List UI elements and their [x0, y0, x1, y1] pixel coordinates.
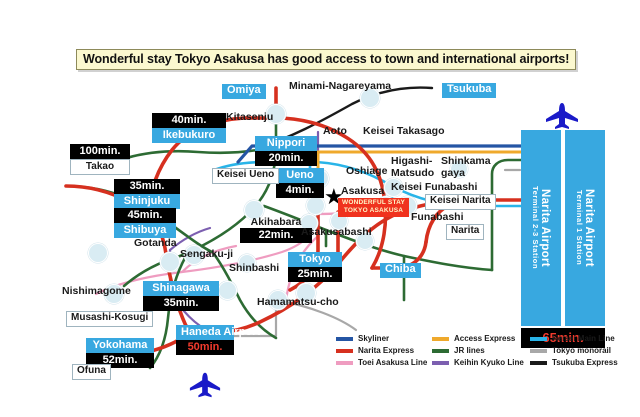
- station-aoto: Aoto: [323, 126, 347, 137]
- station-name-label: Shibuya: [114, 223, 176, 238]
- station-omiya[interactable]: Omiya: [222, 84, 266, 99]
- station-dot: [88, 243, 108, 263]
- legend-swatch: [432, 361, 449, 365]
- travel-time-label: 4min.: [276, 183, 324, 198]
- legend-item-narita-express: Narita Express: [336, 346, 432, 355]
- legend-label: Toei Asakusa Line: [358, 358, 427, 367]
- legend-item-access-express: Access Express: [432, 334, 530, 343]
- legend-item-tsukuba-express: Tsukuba Express: [530, 358, 632, 367]
- station-asakusabashi: Asakusabashi: [301, 227, 372, 238]
- airplane-icon: [544, 103, 580, 129]
- station-takao[interactable]: 100min. Takao: [70, 144, 130, 175]
- legend-item-jr-lines: JR lines: [432, 346, 530, 355]
- legend-label: Narita Express: [358, 346, 414, 355]
- station-oshiage: Oshiage: [346, 166, 387, 177]
- hotel-name-line1: WONDERFUL STAY: [342, 199, 405, 207]
- station-chiba[interactable]: Chiba: [380, 263, 421, 278]
- station-higashi-matsudo-line1: Higashi-: [391, 156, 432, 167]
- station-ofuna[interactable]: Ofuna: [72, 364, 111, 380]
- station-asakusa: Asakusa: [341, 186, 384, 197]
- station-name-label: Shinagawa: [143, 281, 219, 296]
- travel-time-label: 20min.: [255, 151, 317, 166]
- legend-swatch: [336, 361, 353, 365]
- station-dot: [160, 252, 180, 272]
- transit-access-map: Wonderful stay Tokyo Asakusa has good ac…: [0, 0, 640, 417]
- narita-terminal-23-name: Narita Airport: [539, 189, 551, 267]
- station-minami-nagareyama: Minami-Nagareyama: [289, 81, 391, 92]
- station-musashi-kosugi[interactable]: Musashi-Kosugi: [66, 311, 153, 327]
- hotel-name-line2: TOKYO ASAKUSA: [342, 207, 405, 215]
- travel-time-label: 25min.: [288, 267, 342, 282]
- station-funabashi: Funabashi: [411, 212, 464, 223]
- legend-swatch: [530, 349, 547, 353]
- station-shinkamagaya-line2: gaya: [441, 168, 465, 179]
- station-sengakuji: Sengaku-ji: [180, 249, 233, 260]
- station-tokyo[interactable]: Tokyo 25min.: [288, 252, 342, 282]
- legend-label: Keihin Kyuko Line: [454, 358, 524, 367]
- station-shinjuku[interactable]: 35min. Shinjuku: [114, 179, 180, 209]
- legend-item-keihin-kyuko-line: Keihin Kyuko Line: [432, 358, 530, 367]
- station-nippori[interactable]: Nippori 20min.: [255, 136, 317, 166]
- station-keisei-ueno[interactable]: Keisei Ueno: [212, 168, 279, 184]
- station-higashi-matsudo-line2: Matsudo: [391, 168, 434, 179]
- travel-time-label: 45min.: [114, 208, 176, 223]
- narita-terminal-1-block[interactable]: Terminal 1 Station Narita Airport: [565, 130, 605, 326]
- legend-swatch: [432, 349, 449, 353]
- station-shinagawa[interactable]: Shinagawa 35min.: [143, 281, 219, 311]
- legend-swatch: [336, 337, 353, 341]
- station-name-label: Ikebukuro: [152, 128, 226, 143]
- station-shinbashi: Shinbashi: [229, 263, 279, 274]
- station-dot: [218, 281, 237, 300]
- legend-swatch: [530, 361, 547, 365]
- station-nishimagome: Nishimagome: [62, 286, 131, 297]
- narita-terminal-23-sub: Terminal 2-3 Station: [531, 186, 539, 269]
- station-gotanda: Gotanda: [134, 238, 177, 249]
- station-narita[interactable]: Narita: [446, 224, 484, 240]
- station-name-label: Yokohama: [86, 338, 154, 353]
- legend-swatch: [530, 337, 547, 341]
- station-shibuya[interactable]: 45min. Shibuya: [114, 208, 176, 238]
- station-name-label: Ueno: [276, 168, 324, 183]
- station-shinkamagaya-line1: Shinkama: [441, 156, 491, 167]
- headline-banner: Wonderful stay Tokyo Asakusa has good ac…: [76, 49, 576, 70]
- legend-label: Tsukuba Express: [552, 358, 618, 367]
- legend-swatch: [432, 337, 449, 341]
- narita-terminal-23-block[interactable]: Terminal 2-3 Station Narita Airport: [521, 130, 561, 326]
- travel-time-label: 35min.: [114, 179, 180, 194]
- haneda-travel-time-label: 50min.: [176, 340, 234, 355]
- station-name-label: Shinjuku: [114, 194, 180, 209]
- haneda-name-label: Haneda Airport: [176, 325, 234, 340]
- station-haneda-airport[interactable]: Haneda Airport 50min.: [176, 325, 234, 355]
- travel-time-label: 40min.: [152, 113, 226, 128]
- legend-label: Keisei Main Line: [552, 334, 615, 343]
- narita-terminal-1-sub: Terminal 1 Station: [575, 190, 583, 265]
- station-keisei-narita[interactable]: Keisei Narita: [425, 194, 496, 210]
- station-tsukuba[interactable]: Tsukuba: [442, 83, 496, 98]
- legend-label: JR lines: [454, 346, 485, 355]
- travel-time-label: 100min.: [70, 144, 130, 159]
- station-keisei-takasago: Keisei Takasago: [363, 126, 445, 137]
- legend: Skyliner Access Express Keisei Main Line…: [336, 334, 632, 367]
- legend-label: Tokyo monorail: [552, 346, 611, 355]
- station-kitasenju: Kitasenju: [226, 112, 273, 123]
- legend-item-keisei-main-line: Keisei Main Line: [530, 334, 632, 343]
- hotel-badge[interactable]: WONDERFUL STAY TOKYO ASAKUSA: [338, 198, 409, 217]
- legend-label: Skyliner: [358, 334, 389, 343]
- station-name-label: Takao: [70, 159, 130, 175]
- station-name-label: Nippori: [255, 136, 317, 151]
- narita-terminal-1-name: Narita Airport: [583, 189, 595, 267]
- legend-label: Access Express: [454, 334, 515, 343]
- legend-item-tokyo-monorail: Tokyo monorail: [530, 346, 632, 355]
- station-ueno[interactable]: Ueno 4min.: [276, 168, 324, 198]
- legend-item-toei-asakusa-line: Toei Asakusa Line: [336, 358, 432, 367]
- station-name-label: Tokyo: [288, 252, 342, 267]
- legend-swatch: [336, 349, 353, 353]
- station-keisei-funabashi: Keisei Funabashi: [391, 182, 477, 193]
- travel-time-label: 35min.: [143, 296, 219, 311]
- station-hamamatsucho: Hamamatsu-cho: [257, 297, 339, 308]
- station-dot: [306, 196, 325, 215]
- legend-item-skyliner: Skyliner: [336, 334, 432, 343]
- airplane-icon: [188, 372, 222, 398]
- station-ikebukuro[interactable]: 40min. Ikebukuro: [152, 113, 226, 143]
